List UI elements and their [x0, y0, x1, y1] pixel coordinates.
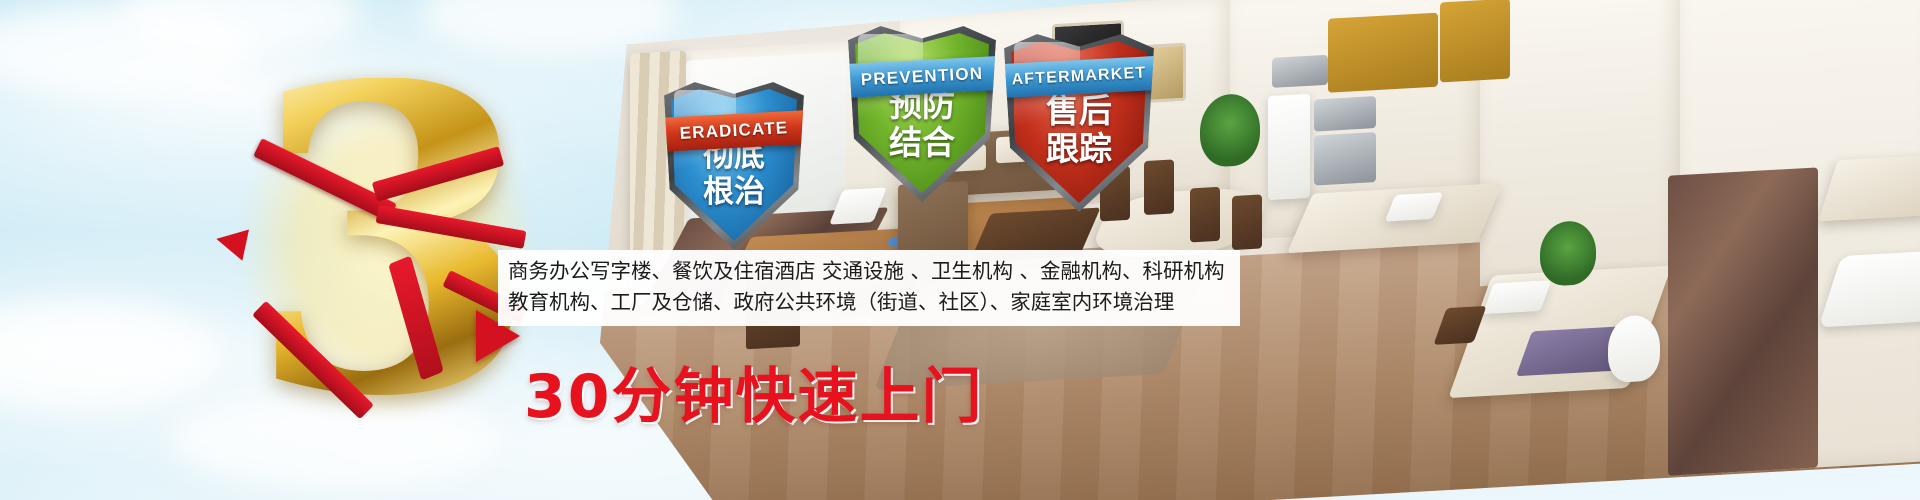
service-scope-line-2: 教育机构、工厂及仓储、政府公共环境（街道、社区）、家庭室内环境治理 [498, 287, 1240, 318]
service-scope-line-1: 商务办公写字楼、餐饮及住宿酒店 交通设施 、卫生机构 、金融机构、科研机构 [498, 256, 1240, 287]
dining-chair [1232, 194, 1262, 250]
kitchen-upper-cabinet [1328, 13, 1438, 93]
microwave [1314, 96, 1376, 131]
potted-plant [1540, 220, 1596, 287]
toilet [1608, 314, 1660, 383]
refrigerator [1268, 94, 1310, 200]
cloud-decoration [0, 300, 220, 410]
headline-text: 30分钟快速上门 [524, 348, 984, 435]
badge-chinese-top: 售后 [1004, 94, 1154, 129]
service-scope-box: 商务办公写字楼、餐饮及住宿酒店 交通设施 、卫生机构 、金融机构、科研机构 教育… [498, 250, 1240, 326]
bathroom-wall-tile [1668, 167, 1818, 475]
badge-chinese-bottom: 根治 [664, 176, 804, 209]
range-hood [1272, 55, 1328, 88]
dining-chair [1144, 159, 1174, 215]
dining-chair [1190, 187, 1220, 243]
badge-chinese-bottom: 跟踪 [1004, 132, 1154, 167]
kitchen-upper-cabinet [1440, 0, 1510, 82]
oven [1314, 132, 1376, 185]
promo-banner: 3 彻底 根治 ERADICATE 预防 结合 PREVENTION 售后 跟踪… [0, 0, 1920, 500]
potted-plant [1200, 93, 1260, 168]
